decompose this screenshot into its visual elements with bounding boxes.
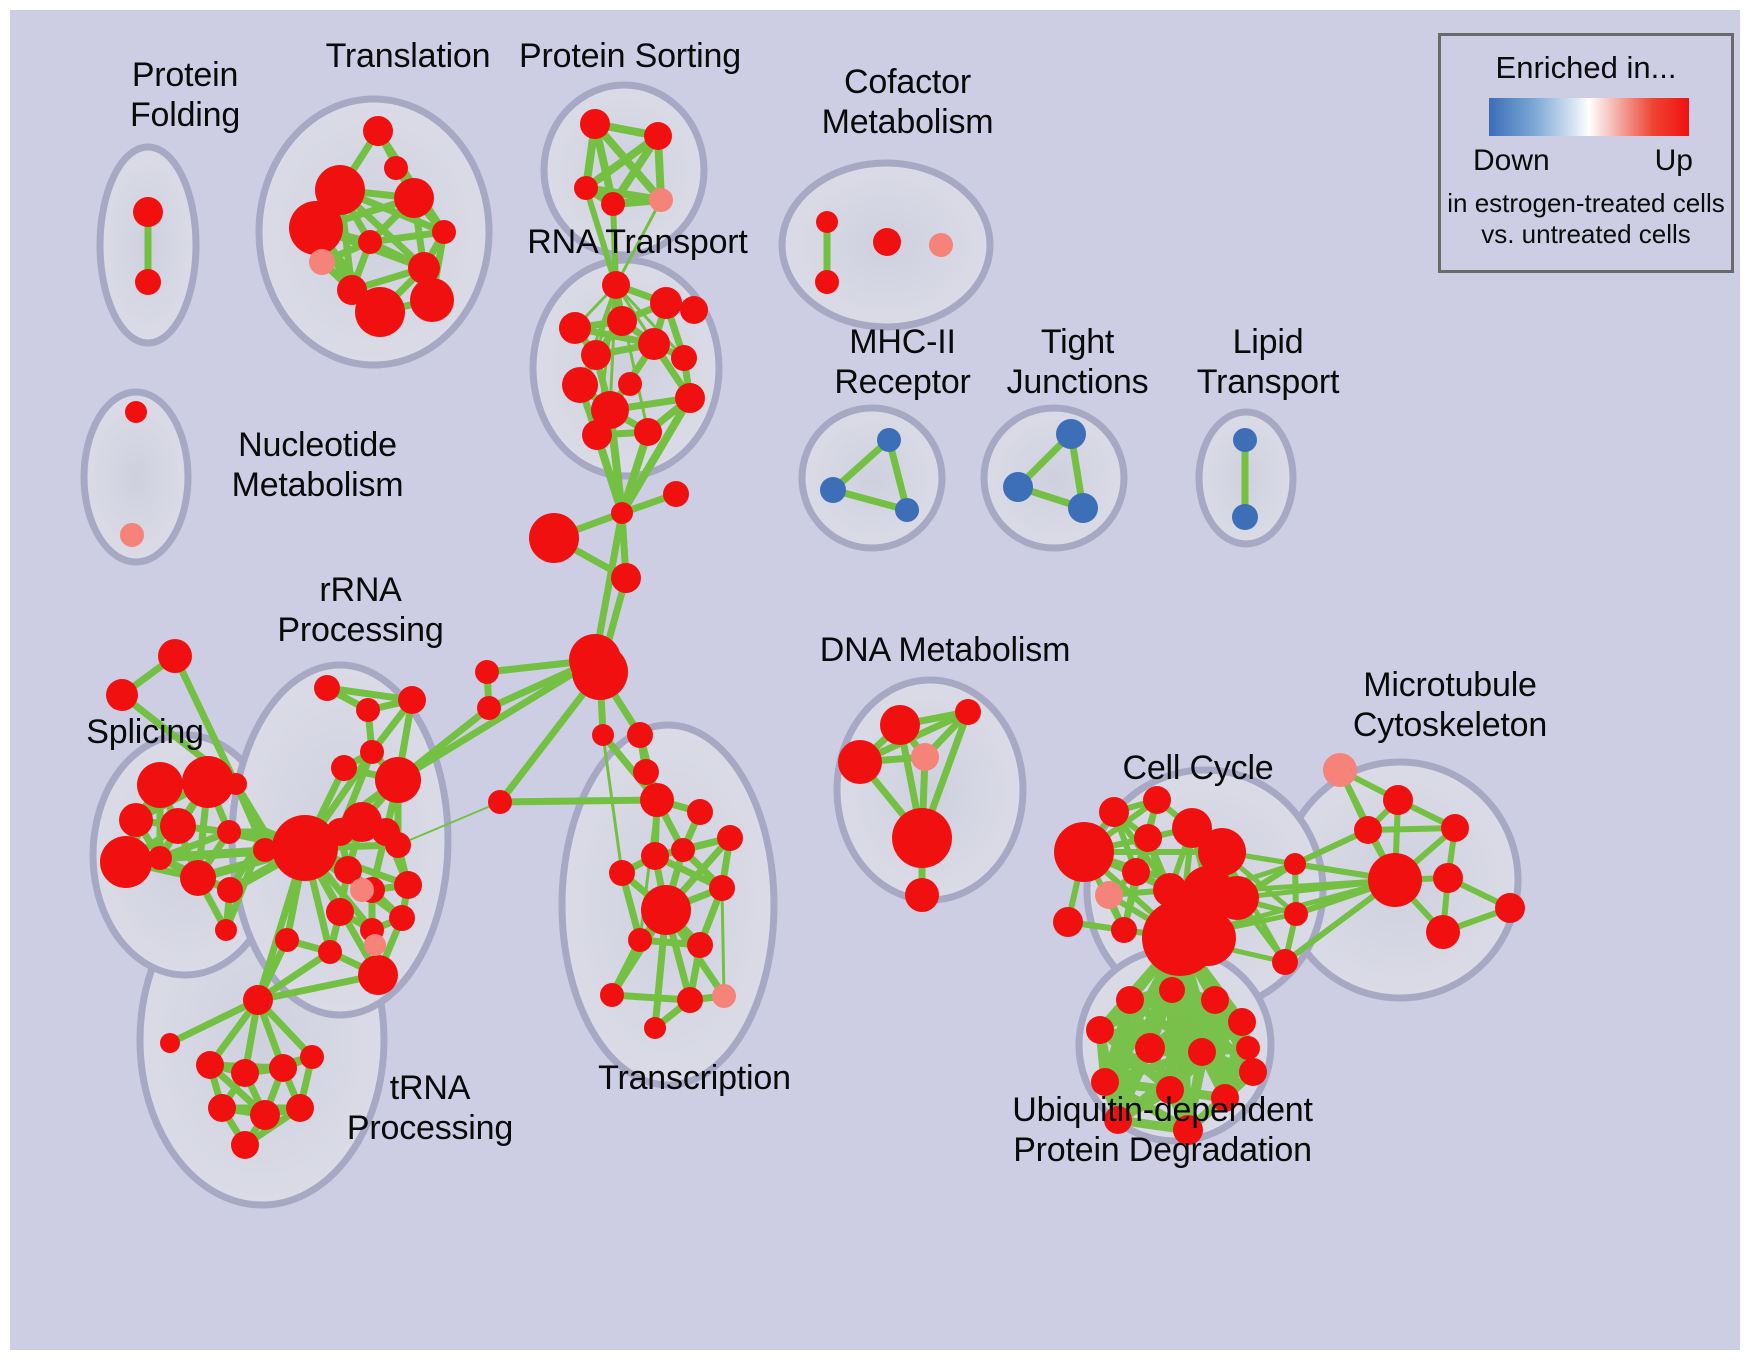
node — [640, 783, 674, 817]
node — [1284, 902, 1308, 926]
node — [1180, 910, 1236, 966]
label-dna-metabolism: DNA Metabolism — [800, 630, 1090, 670]
node — [385, 832, 411, 858]
legend-color-gradient-bar — [1489, 98, 1689, 136]
node — [217, 820, 241, 844]
node — [475, 660, 499, 684]
node — [1135, 1033, 1165, 1063]
node — [160, 808, 196, 844]
node — [363, 116, 393, 146]
node — [269, 1054, 297, 1082]
node — [581, 340, 611, 370]
node — [650, 287, 682, 319]
node — [580, 109, 610, 139]
node — [1099, 797, 1129, 827]
node — [1239, 1058, 1267, 1086]
node — [1068, 493, 1098, 523]
node — [712, 984, 736, 1008]
node — [680, 296, 708, 324]
node — [929, 233, 953, 257]
node — [356, 698, 380, 722]
node — [120, 523, 144, 547]
node — [394, 178, 434, 218]
legend-subtitle: in estrogen-treated cells vs. untreated … — [1441, 188, 1731, 250]
label-nucleotide-metabolism: Nucleotide Metabolism — [185, 425, 450, 505]
node — [275, 928, 299, 952]
node — [410, 278, 454, 322]
node — [1054, 822, 1114, 882]
node — [394, 871, 422, 899]
node — [628, 928, 652, 952]
label-lipid-transport: Lipid Transport — [1158, 322, 1378, 402]
node — [309, 249, 335, 275]
node — [816, 211, 838, 233]
node — [106, 679, 138, 711]
node — [215, 919, 237, 941]
node — [148, 846, 172, 870]
node — [358, 955, 398, 995]
node — [375, 757, 421, 803]
node — [196, 1051, 224, 1079]
label-rrna-processing: rRNA Processing — [238, 570, 483, 650]
node — [1134, 824, 1162, 852]
node — [602, 271, 630, 299]
cluster-dna-metabolism — [837, 680, 1023, 900]
node — [671, 838, 695, 862]
node — [1272, 949, 1298, 975]
node — [1236, 1036, 1260, 1060]
node — [1111, 917, 1137, 943]
node — [838, 740, 882, 784]
label-protein-sorting: Protein Sorting — [490, 36, 770, 76]
node — [815, 270, 839, 294]
node — [358, 230, 382, 254]
node — [1233, 428, 1257, 452]
node — [331, 755, 357, 781]
node — [180, 860, 216, 896]
node — [601, 192, 625, 216]
node — [1086, 1016, 1114, 1044]
label-protein-folding: Protein Folding — [80, 55, 290, 135]
node — [231, 1131, 259, 1159]
node — [675, 383, 705, 413]
node — [562, 367, 598, 403]
node — [618, 372, 642, 396]
node — [243, 985, 273, 1015]
node — [892, 808, 952, 868]
node — [119, 803, 153, 837]
legend-up-label: Up — [1655, 144, 1693, 178]
node — [135, 269, 161, 295]
node — [217, 877, 243, 903]
node — [360, 740, 384, 764]
label-microtubule-cytoskeleton: Microtubule Cytoskeleton — [1300, 665, 1600, 745]
node — [158, 639, 192, 673]
node — [574, 176, 598, 200]
color-legend: Enriched in... Down Up in estrogen-treat… — [1438, 33, 1734, 273]
node — [641, 842, 669, 870]
node — [384, 156, 408, 180]
node — [671, 345, 697, 371]
node — [677, 987, 703, 1013]
node — [133, 197, 163, 227]
node — [250, 1100, 280, 1130]
node — [1095, 881, 1123, 909]
node — [208, 1094, 236, 1122]
node — [634, 418, 662, 446]
label-ubiquitin-degradation: Ubiquitin-dependent Protein Degradation — [985, 1090, 1340, 1170]
node — [687, 932, 713, 958]
node — [1201, 986, 1229, 1014]
node — [880, 705, 920, 745]
node — [125, 401, 147, 423]
label-rna-transport: RNA Transport — [500, 222, 775, 262]
label-splicing: Splicing — [50, 712, 240, 752]
node — [873, 228, 901, 256]
node — [641, 885, 691, 935]
node — [592, 724, 614, 746]
node — [644, 1017, 666, 1039]
node — [1441, 814, 1469, 842]
node — [905, 878, 939, 912]
cluster-mhc-ii — [802, 408, 942, 548]
label-transcription: Transcription — [562, 1058, 827, 1098]
node — [1188, 1038, 1216, 1066]
node — [572, 644, 628, 700]
cluster-tight-junctions — [984, 408, 1124, 548]
node — [611, 563, 641, 593]
node — [709, 875, 735, 901]
figure-canvas: Protein Folding Translation Protein Sort… — [0, 0, 1750, 1360]
node — [633, 759, 659, 785]
label-tight-junctions: Tight Junctions — [970, 322, 1185, 402]
node — [1122, 858, 1150, 886]
node — [1215, 876, 1259, 920]
node — [1143, 786, 1171, 814]
node — [559, 312, 591, 344]
node — [289, 201, 343, 255]
node — [877, 428, 901, 452]
node — [389, 905, 415, 931]
legend-down-label: Down — [1473, 144, 1550, 178]
node — [100, 836, 152, 888]
node — [600, 983, 624, 1007]
node — [1056, 419, 1086, 449]
node — [350, 878, 374, 902]
node — [582, 420, 612, 450]
node — [160, 1033, 180, 1053]
node — [1368, 853, 1422, 907]
node — [1116, 986, 1144, 1014]
node — [355, 287, 405, 337]
node — [326, 898, 354, 926]
node — [318, 940, 342, 964]
node — [607, 306, 637, 336]
node — [611, 502, 633, 524]
node — [687, 799, 713, 825]
node — [1383, 785, 1413, 815]
node — [1003, 472, 1033, 502]
node — [649, 188, 673, 212]
node — [911, 743, 939, 771]
node — [1228, 1008, 1256, 1036]
node — [1433, 863, 1463, 893]
node — [663, 481, 689, 507]
node — [627, 722, 653, 748]
node — [300, 1045, 324, 1069]
node — [231, 1059, 259, 1087]
node — [1354, 816, 1382, 844]
node — [638, 328, 670, 360]
label-trna-processing: tRNA Processing — [310, 1068, 550, 1148]
node — [1284, 853, 1306, 875]
node — [432, 220, 456, 244]
label-cell-cycle: Cell Cycle — [1088, 748, 1308, 788]
node — [477, 696, 501, 720]
legend-title: Enriched in... — [1441, 50, 1731, 86]
node — [955, 699, 981, 725]
node — [1323, 753, 1357, 787]
node — [717, 825, 743, 851]
node — [1159, 977, 1185, 1003]
node — [137, 762, 183, 808]
node — [364, 934, 386, 956]
node — [644, 122, 672, 150]
node — [1426, 915, 1460, 949]
node — [488, 790, 512, 814]
node — [182, 756, 234, 808]
node — [609, 860, 635, 886]
node — [1232, 504, 1258, 530]
node — [895, 498, 919, 522]
node — [1495, 893, 1525, 923]
node — [398, 686, 426, 714]
node — [314, 675, 340, 701]
label-cofactor-metabolism: Cofactor Metabolism — [775, 62, 1040, 142]
node — [1053, 907, 1083, 937]
node — [820, 477, 846, 503]
node — [529, 513, 579, 563]
